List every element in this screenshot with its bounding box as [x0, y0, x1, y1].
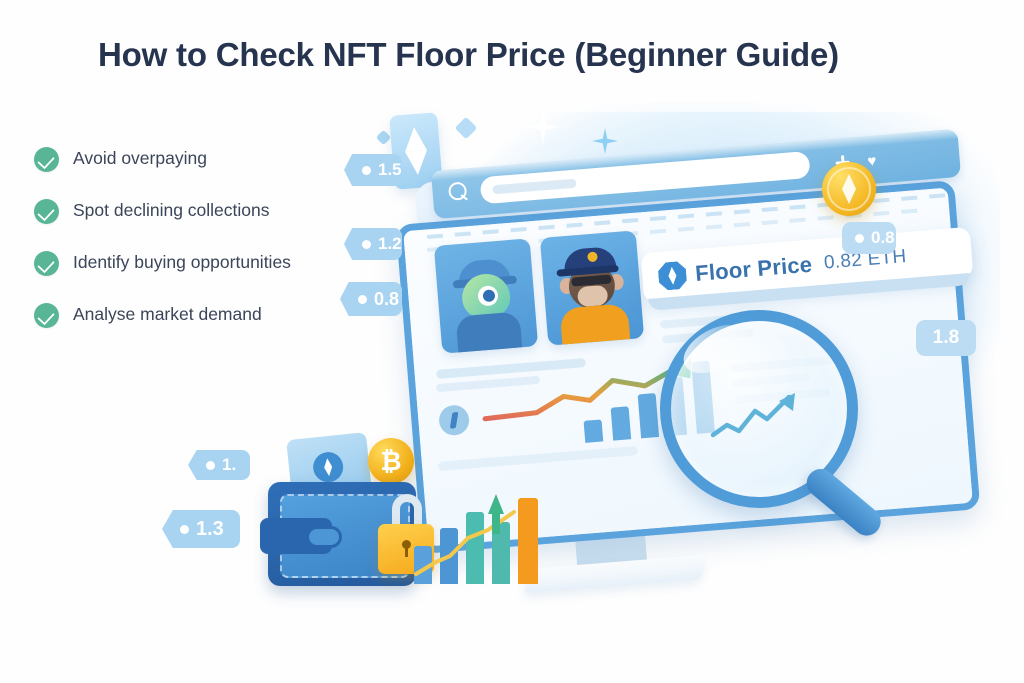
check-circle-icon — [34, 251, 59, 276]
floor-price-label: Floor Price — [694, 252, 813, 287]
check-circle-icon — [34, 147, 59, 172]
list-item: Analyse market demand — [34, 302, 364, 328]
price-tag-value: 0.8 — [374, 289, 399, 310]
price-tag: 1. — [188, 450, 250, 480]
list-item: Avoid overpaying — [34, 146, 364, 172]
price-tag: 0.8 — [842, 222, 896, 254]
price-tag: 1.3 — [162, 510, 240, 548]
ethereum-icon — [312, 451, 345, 484]
magnifier-handle — [801, 463, 886, 541]
price-tag-value: 1.2 — [378, 234, 402, 254]
price-tag: 1.5 — [344, 154, 402, 186]
page-title: How to Check NFT Floor Price (Beginner G… — [98, 36, 839, 74]
price-tag: 1.2 — [344, 228, 402, 260]
trend-line — [410, 490, 550, 586]
check-circle-icon — [34, 303, 59, 328]
bitcoin-coin: ₿ — [368, 438, 414, 484]
search-icon[interactable] — [448, 181, 470, 203]
price-tag-value: 1.3 — [196, 518, 224, 541]
benefit-label: Avoid overpaying — [73, 146, 207, 170]
ethereum-icon — [657, 261, 687, 291]
nft-card-ape[interactable] — [540, 230, 644, 345]
price-tag-value: 1.5 — [378, 160, 402, 180]
price-tag-value: 1.8 — [933, 327, 959, 349]
nft-card-alien[interactable] — [434, 238, 538, 353]
bottom-growth-chart — [414, 488, 554, 584]
magnifying-glass — [660, 310, 880, 550]
price-tag: 0.8 — [340, 282, 402, 316]
list-item: Identify buying opportunities — [34, 250, 364, 276]
price-tag: 1.8 — [916, 320, 976, 356]
benefit-label: Analyse market demand — [73, 302, 262, 326]
check-circle-icon — [34, 199, 59, 224]
bitcoin-symbol: ₿ — [380, 446, 401, 477]
infographic-canvas: How to Check NFT Floor Price (Beginner G… — [0, 0, 1024, 683]
price-tag-value: 1. — [222, 455, 236, 475]
benefit-label: Identify buying opportunities — [73, 250, 291, 274]
ethereum-coin — [822, 162, 876, 216]
nft-illustration: ♥ — [330, 92, 1024, 652]
benefit-label: Spot declining collections — [73, 198, 270, 222]
magnifier-chart — [709, 391, 809, 443]
benefits-list: Avoid overpaying Spot declining collecti… — [34, 146, 364, 354]
price-tag-value: 0.8 — [871, 228, 895, 248]
list-item: Spot declining collections — [34, 198, 364, 224]
heart-icon[interactable]: ♥ — [867, 153, 884, 169]
